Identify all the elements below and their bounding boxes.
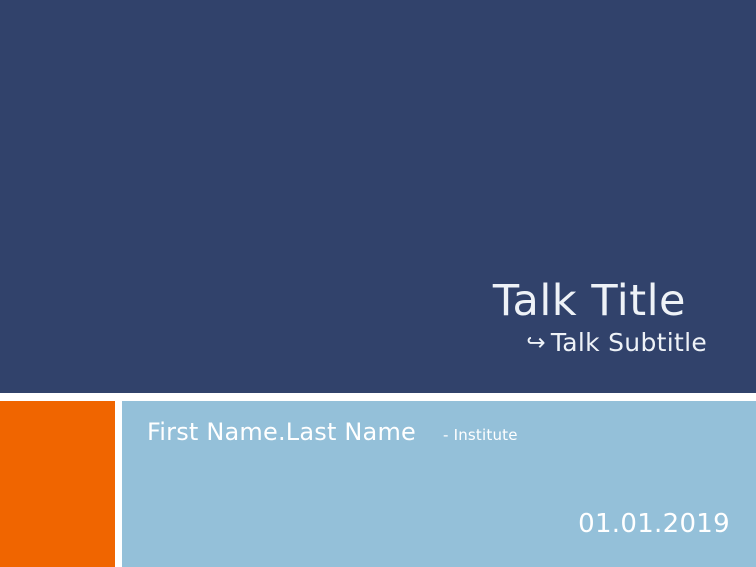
title-block: Talk Title ↪Talk Subtitle bbox=[493, 280, 686, 355]
hookrightarrow-icon: ↪ bbox=[526, 332, 546, 355]
author-institute: - Institute bbox=[443, 426, 518, 444]
author-name: First Name.Last Name bbox=[147, 418, 416, 446]
page-subtitle-label: Talk Subtitle bbox=[551, 328, 707, 357]
presentation-date: 01.01.2019 bbox=[578, 509, 730, 539]
title-slide: Talk Title ↪Talk Subtitle First Name.Las… bbox=[0, 0, 756, 567]
page-subtitle: ↪Talk Subtitle bbox=[493, 330, 707, 355]
info-panel: First Name.Last Name- Institute 01.01.20… bbox=[122, 401, 756, 567]
author-line: First Name.Last Name- Institute bbox=[147, 418, 518, 446]
page-title: Talk Title bbox=[493, 280, 686, 323]
title-panel: Talk Title ↪Talk Subtitle bbox=[0, 0, 756, 393]
accent-block bbox=[0, 401, 115, 567]
